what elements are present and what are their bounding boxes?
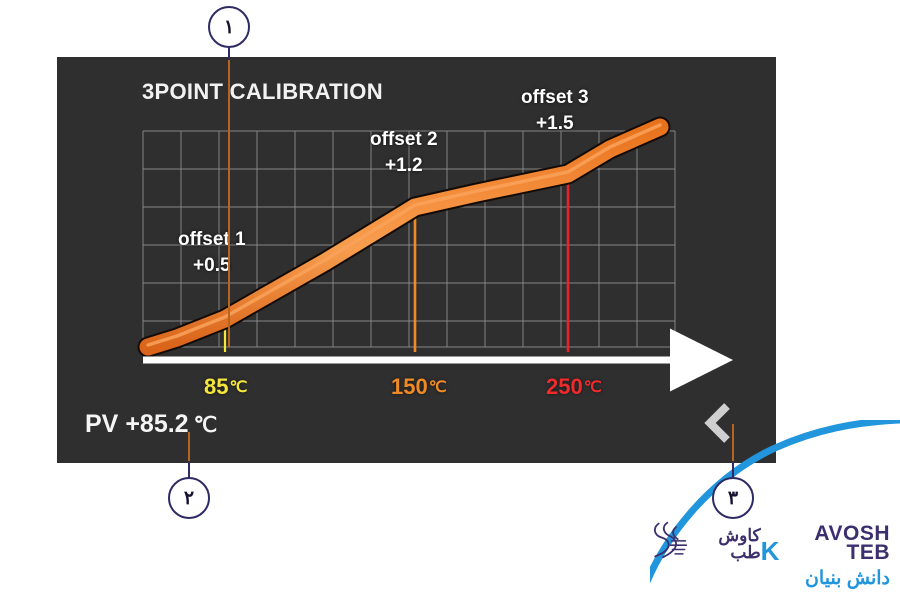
offset-2-value: +1.2 bbox=[370, 153, 438, 179]
tick-label-85: 85℃ bbox=[204, 374, 247, 400]
tick-85-unit: ℃ bbox=[229, 379, 247, 396]
callout-1-leader-inner bbox=[228, 57, 230, 347]
tick-label-250: 250℃ bbox=[546, 374, 602, 400]
tick-150-value: 150 bbox=[391, 374, 428, 399]
callout-2-leader-inner bbox=[188, 432, 190, 463]
tick-150-unit: ℃ bbox=[429, 379, 447, 396]
brand-tagline: دانش بنیان bbox=[650, 569, 890, 588]
callout-marker-3: ۳ bbox=[712, 477, 754, 519]
offset-3-annotation: offset 3 +1.5 bbox=[521, 85, 589, 136]
tick-label-150: 150℃ bbox=[391, 374, 447, 400]
pv-label: PV bbox=[85, 410, 118, 438]
tick-250-unit: ℃ bbox=[584, 379, 602, 396]
offset-3-value: +1.5 bbox=[521, 111, 589, 137]
device-screen: 3POINT CALIBRATION bbox=[57, 57, 776, 463]
offset-1-annotation: offset 1 +0.5 bbox=[178, 227, 246, 278]
pv-readout: PV +85.2℃ bbox=[85, 410, 217, 439]
calibration-chart bbox=[57, 57, 776, 463]
tick-250-value: 250 bbox=[546, 374, 583, 399]
brand-logo: کاوش طب K AVOSH TEB دانش بنیان bbox=[650, 517, 890, 588]
screenshot-root: 3POINT CALIBRATION bbox=[0, 0, 900, 600]
callout-marker-2: ۲ bbox=[168, 477, 210, 519]
callout-marker-1: ۱ bbox=[208, 6, 250, 48]
callout-3-leader-inner bbox=[732, 424, 734, 463]
dna-helix-icon bbox=[650, 517, 690, 563]
offset-3-title: offset 3 bbox=[521, 85, 589, 111]
brand-initial: K bbox=[761, 540, 780, 563]
tick-85-value: 85 bbox=[204, 374, 228, 399]
offset-2-annotation: offset 2 +1.2 bbox=[370, 127, 438, 178]
pv-value: +85.2 bbox=[125, 410, 188, 438]
offset-2-title: offset 2 bbox=[370, 127, 438, 153]
offset-1-value: +0.5 bbox=[178, 253, 246, 279]
offset-1-title: offset 1 bbox=[178, 227, 246, 253]
brand-name-fa: کاوش طب bbox=[694, 527, 761, 561]
callout-1-leader bbox=[228, 48, 230, 60]
brand-name-en: AVOSH TEB bbox=[781, 525, 890, 563]
pv-unit: ℃ bbox=[194, 414, 218, 437]
